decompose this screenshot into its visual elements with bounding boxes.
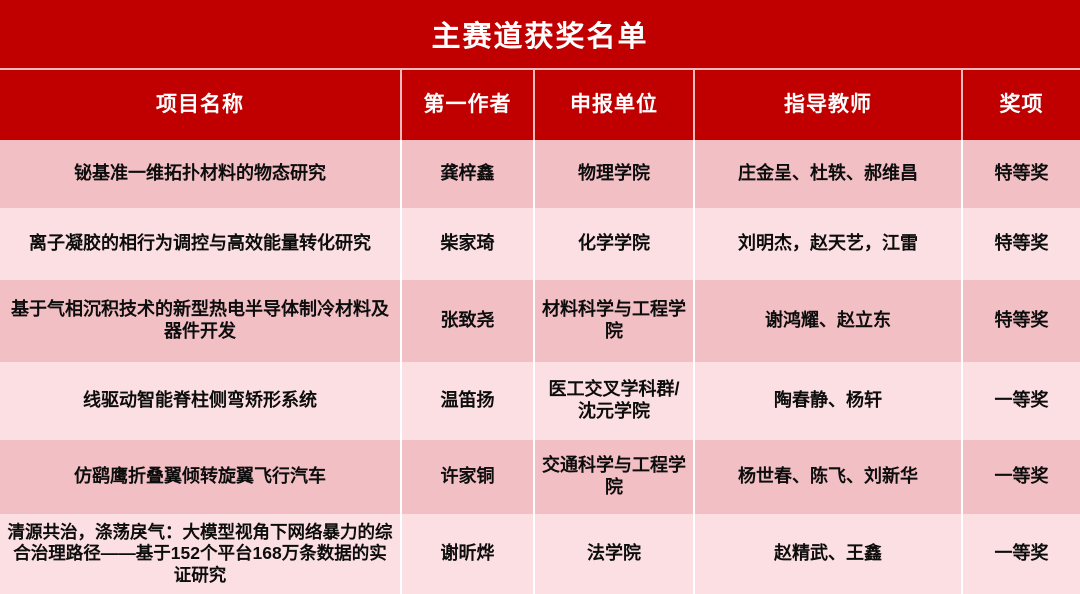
cell-advisor: 陶春静、杨轩 [695, 362, 963, 440]
cell-unit: 化学学院 [535, 208, 695, 280]
cell-advisor: 谢鸿耀、赵立东 [695, 280, 963, 362]
cell-advisor: 杨世春、陈飞、刘新华 [695, 440, 963, 514]
cell-author: 温笛扬 [402, 362, 535, 440]
cell-advisor: 刘明杰，赵天艺，江雷 [695, 208, 963, 280]
cell-project: 清源共治，涤荡戾气：大模型视角下网络暴力的综合治理路径——基于152个平台168… [0, 514, 402, 594]
cell-project: 离子凝胶的相行为调控与高效能量转化研究 [0, 208, 402, 280]
table-row: 铋基准一维拓扑材料的物态研究 龚梓鑫 物理学院 庄金呈、杜轶、郝维昌 特等奖 [0, 140, 1080, 208]
cell-author: 柴家琦 [402, 208, 535, 280]
award-list-table: 主赛道获奖名单 项目名称 第一作者 申报单位 指导教师 奖项 铋基准一维拓扑材料… [0, 0, 1080, 594]
cell-unit: 物理学院 [535, 140, 695, 208]
cell-author: 龚梓鑫 [402, 140, 535, 208]
table-row: 离子凝胶的相行为调控与高效能量转化研究 柴家琦 化学学院 刘明杰，赵天艺，江雷 … [0, 208, 1080, 280]
cell-project: 线驱动智能脊柱侧弯矫形系统 [0, 362, 402, 440]
cell-advisor: 庄金呈、杜轶、郝维昌 [695, 140, 963, 208]
cell-project: 铋基准一维拓扑材料的物态研究 [0, 140, 402, 208]
column-header-unit: 申报单位 [535, 70, 695, 140]
cell-award: 一等奖 [963, 362, 1080, 440]
table-row: 线驱动智能脊柱侧弯矫形系统 温笛扬 医工交叉学科群/沈元学院 陶春静、杨轩 一等… [0, 362, 1080, 440]
cell-award: 一等奖 [963, 514, 1080, 594]
column-header-author: 第一作者 [402, 70, 535, 140]
cell-author: 许家铜 [402, 440, 535, 514]
cell-award: 一等奖 [963, 440, 1080, 514]
cell-unit: 法学院 [535, 514, 695, 594]
page-title: 主赛道获奖名单 [0, 0, 1080, 68]
table-row: 仿鹞鹰折叠翼倾转旋翼飞行汽车 许家铜 交通科学与工程学院 杨世春、陈飞、刘新华 … [0, 440, 1080, 514]
cell-unit: 医工交叉学科群/沈元学院 [535, 362, 695, 440]
cell-project: 基于气相沉积技术的新型热电半导体制冷材料及器件开发 [0, 280, 402, 362]
cell-advisor: 赵精武、王鑫 [695, 514, 963, 594]
cell-award: 特等奖 [963, 280, 1080, 362]
cell-award: 特等奖 [963, 208, 1080, 280]
column-header-project: 项目名称 [0, 70, 402, 140]
column-header-award: 奖项 [963, 70, 1080, 140]
table-header-row: 项目名称 第一作者 申报单位 指导教师 奖项 [0, 68, 1080, 140]
table-row: 清源共治，涤荡戾气：大模型视角下网络暴力的综合治理路径——基于152个平台168… [0, 514, 1080, 594]
cell-unit: 交通科学与工程学院 [535, 440, 695, 514]
column-header-advisor: 指导教师 [695, 70, 963, 140]
cell-author: 张致尧 [402, 280, 535, 362]
cell-unit: 材料科学与工程学院 [535, 280, 695, 362]
table-row: 基于气相沉积技术的新型热电半导体制冷材料及器件开发 张致尧 材料科学与工程学院 … [0, 280, 1080, 362]
cell-project: 仿鹞鹰折叠翼倾转旋翼飞行汽车 [0, 440, 402, 514]
cell-award: 特等奖 [963, 140, 1080, 208]
cell-author: 谢昕烨 [402, 514, 535, 594]
